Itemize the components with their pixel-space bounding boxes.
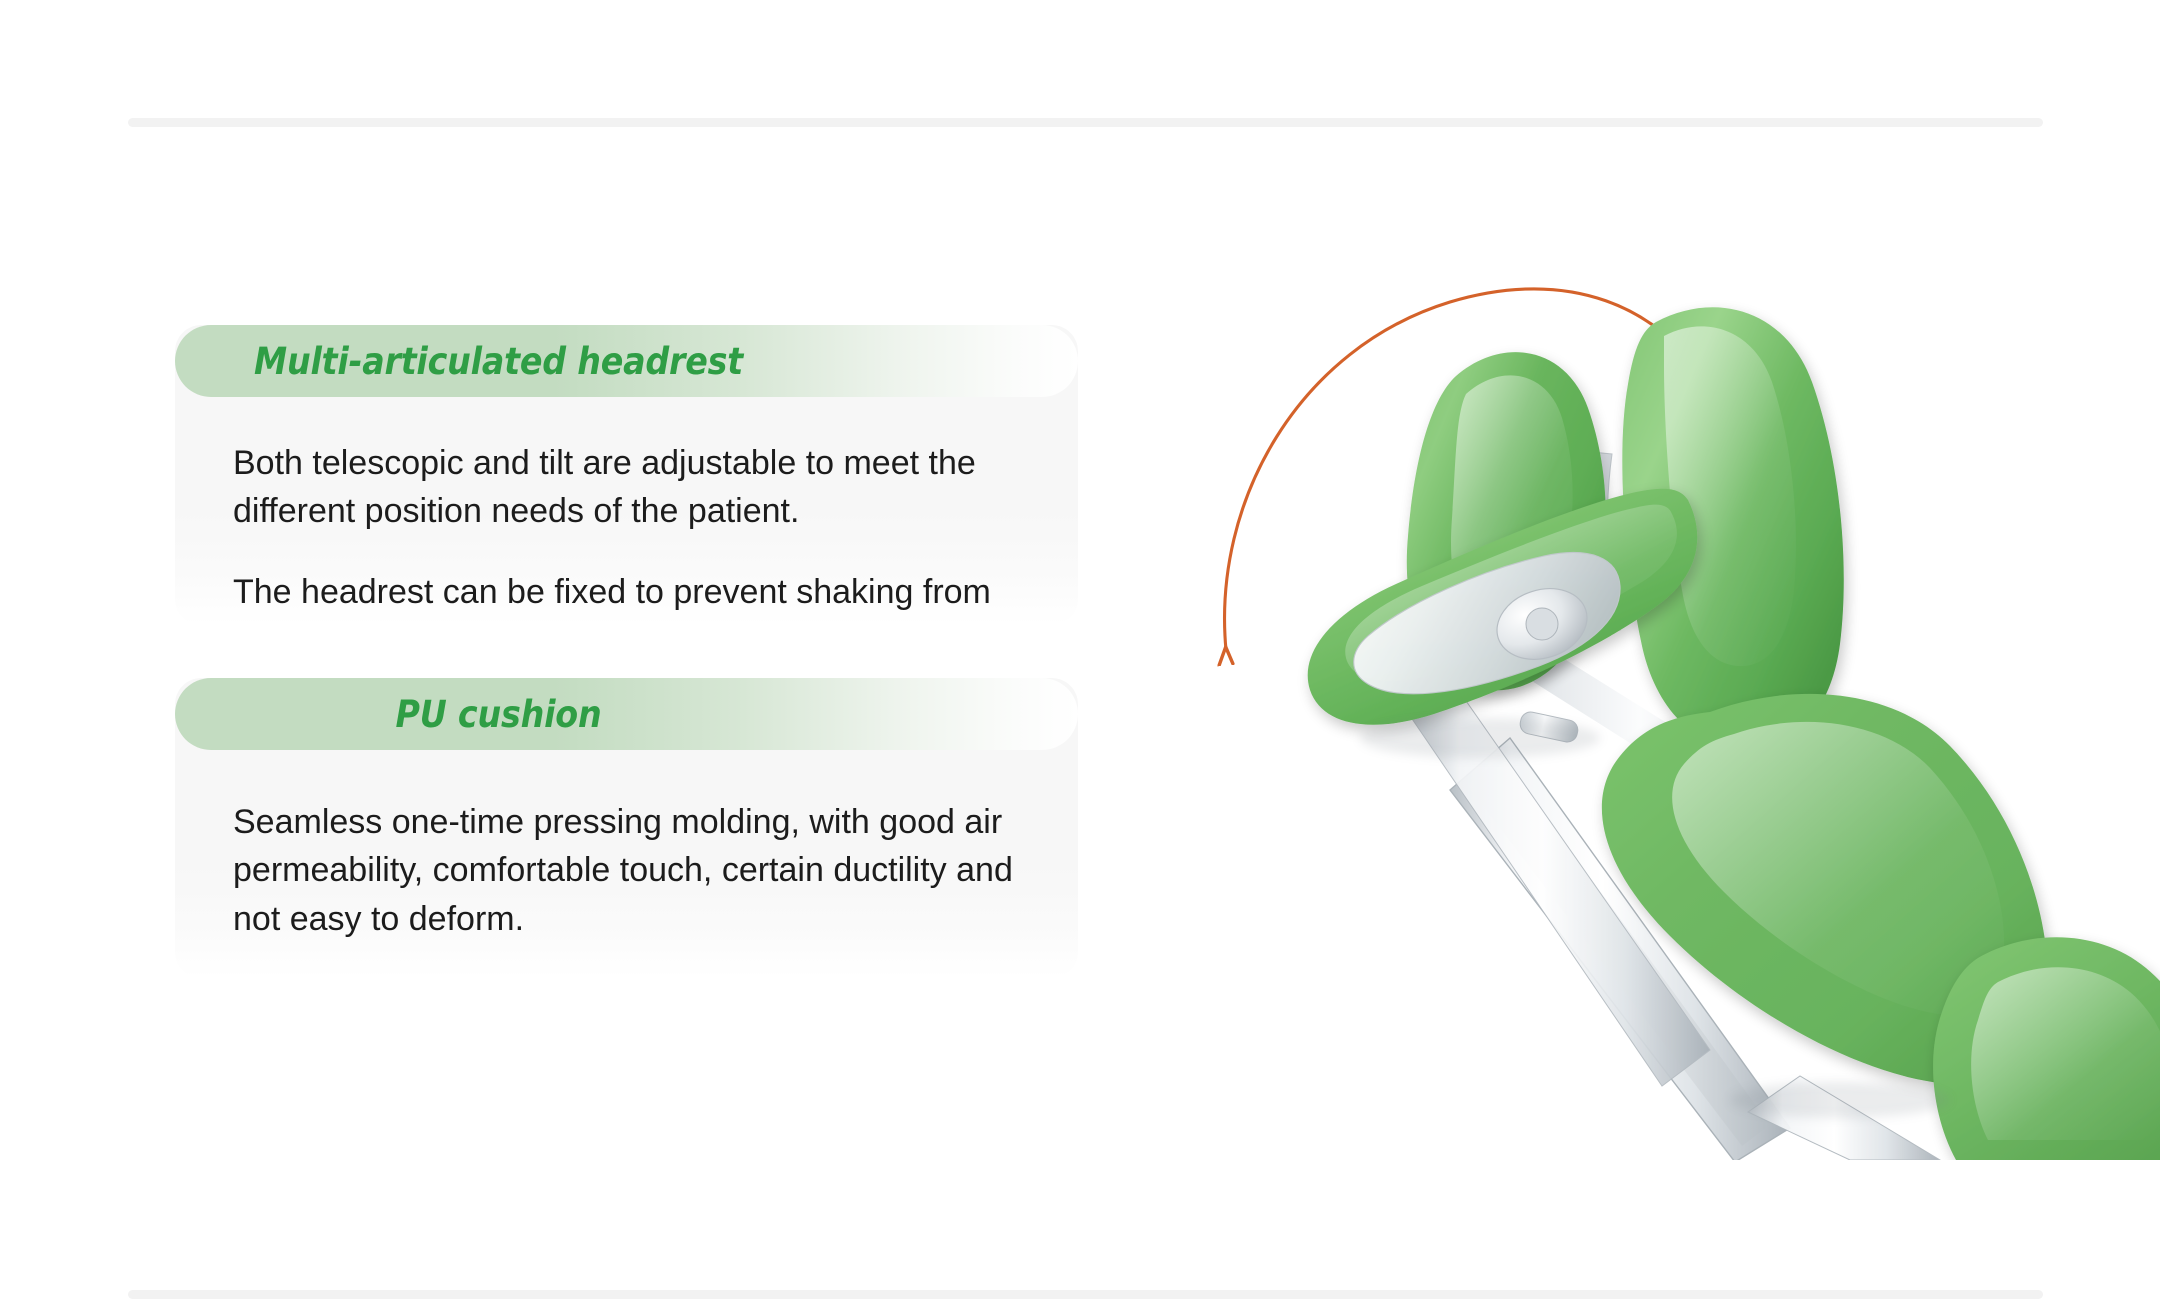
card-header-pu-cushion: PU cushion xyxy=(175,678,1078,750)
feature-card-pu-cushion: PU cushion Seamless one-time pressing mo… xyxy=(175,678,1078,978)
feature-card-list: Multi-articulated headrest Both telescop… xyxy=(175,325,1078,978)
card-paragraph: Both telescopic and tilt are adjustable … xyxy=(233,439,1013,536)
feature-card-headrest: Multi-articulated headrest Both telescop… xyxy=(175,325,1078,625)
card-title-pu-cushion: PU cushion xyxy=(396,693,602,736)
card-header-headrest: Multi-articulated headrest xyxy=(175,325,1078,397)
card-paragraph: Seamless one-time pressing molding, with… xyxy=(233,798,1013,943)
feature-page: Multi-articulated headrest Both telescop… xyxy=(0,0,2160,1299)
top-rule xyxy=(128,118,2043,127)
card-title-headrest: Multi-articulated headrest xyxy=(254,340,743,383)
product-illustration xyxy=(1150,150,2160,1160)
bottom-rule xyxy=(128,1290,2043,1299)
card-body-pu-cushion: Seamless one-time pressing molding, with… xyxy=(175,750,1078,943)
card-body-headrest: Both telescopic and tilt are adjustable … xyxy=(175,397,1078,625)
card-paragraph: The headrest can be fixed to prevent sha… xyxy=(233,568,1013,625)
seat-cushion xyxy=(1933,937,2160,1160)
